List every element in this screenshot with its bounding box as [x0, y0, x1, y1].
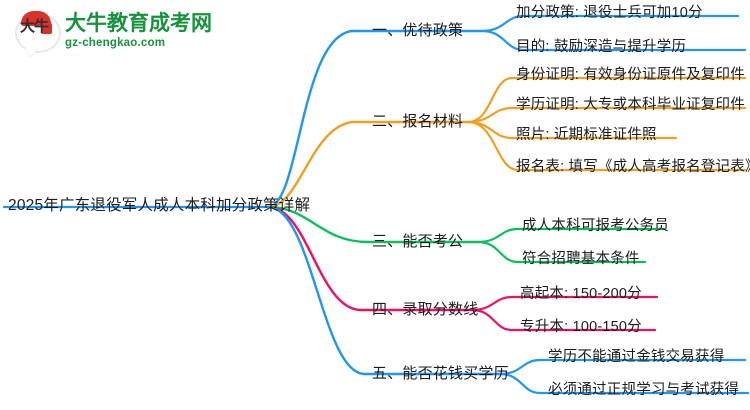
leaf-label-4-2[interactable]: 专升本: 100-150分	[520, 318, 642, 337]
logo-text-block: 大牛教育成考网 gz-chengkao.com	[65, 12, 212, 50]
branch-label-5[interactable]: 五、能否花钱买学历	[372, 364, 509, 384]
leaf-label-2-2[interactable]: 学历证明: 大专或本科毕业证复印件	[516, 96, 745, 115]
leaf-label-2-3[interactable]: 照片: 近期标准证件照	[516, 126, 657, 145]
mindmap-root-label[interactable]: 2025年广东退役军人成人本科加分政策详解	[8, 196, 310, 216]
site-logo[interactable]: 大牛 大牛教育成考网 gz-chengkao.com	[14, 8, 204, 54]
leaf-label-1-1[interactable]: 加分政策: 退役士兵可加10分	[516, 4, 703, 23]
leaf-label-3-2[interactable]: 符合招聘基本条件	[522, 250, 640, 269]
leaf-label-3-1[interactable]: 成人本科可报考公务员	[522, 217, 669, 236]
leaf-label-1-2[interactable]: 目的: 鼓励深造与提升学历	[516, 38, 686, 57]
logo-glyph-text: 大牛	[19, 19, 49, 34]
mindmap-canvas: 大牛 大牛教育成考网 gz-chengkao.com 2025年广东退役军人成人…	[0, 0, 750, 410]
branch-label-2[interactable]: 二、报名材料	[372, 112, 463, 132]
leaf-label-5-2[interactable]: 必须通过正规学习与考试获得	[548, 381, 739, 400]
leaf-label-2-1[interactable]: 身份证明: 有效身份证原件及复印件	[516, 66, 745, 85]
logo-mark-icon: 大牛	[14, 10, 58, 52]
branch-label-4[interactable]: 四、录取分数线	[372, 300, 478, 320]
leaf-label-5-1[interactable]: 学历不能通过金钱交易获得	[548, 348, 724, 367]
logo-site-url: gz-chengkao.com	[65, 36, 212, 50]
branch-label-3[interactable]: 三、能否考公	[372, 232, 463, 252]
leaf-label-4-1[interactable]: 高起本: 150-200分	[520, 285, 642, 304]
logo-site-name: 大牛教育成考网	[65, 12, 212, 36]
leaf-label-2-4[interactable]: 报名表: 填写《成人高考报名登记表》	[516, 158, 750, 177]
branch-label-1[interactable]: 一、优待政策	[372, 21, 463, 41]
